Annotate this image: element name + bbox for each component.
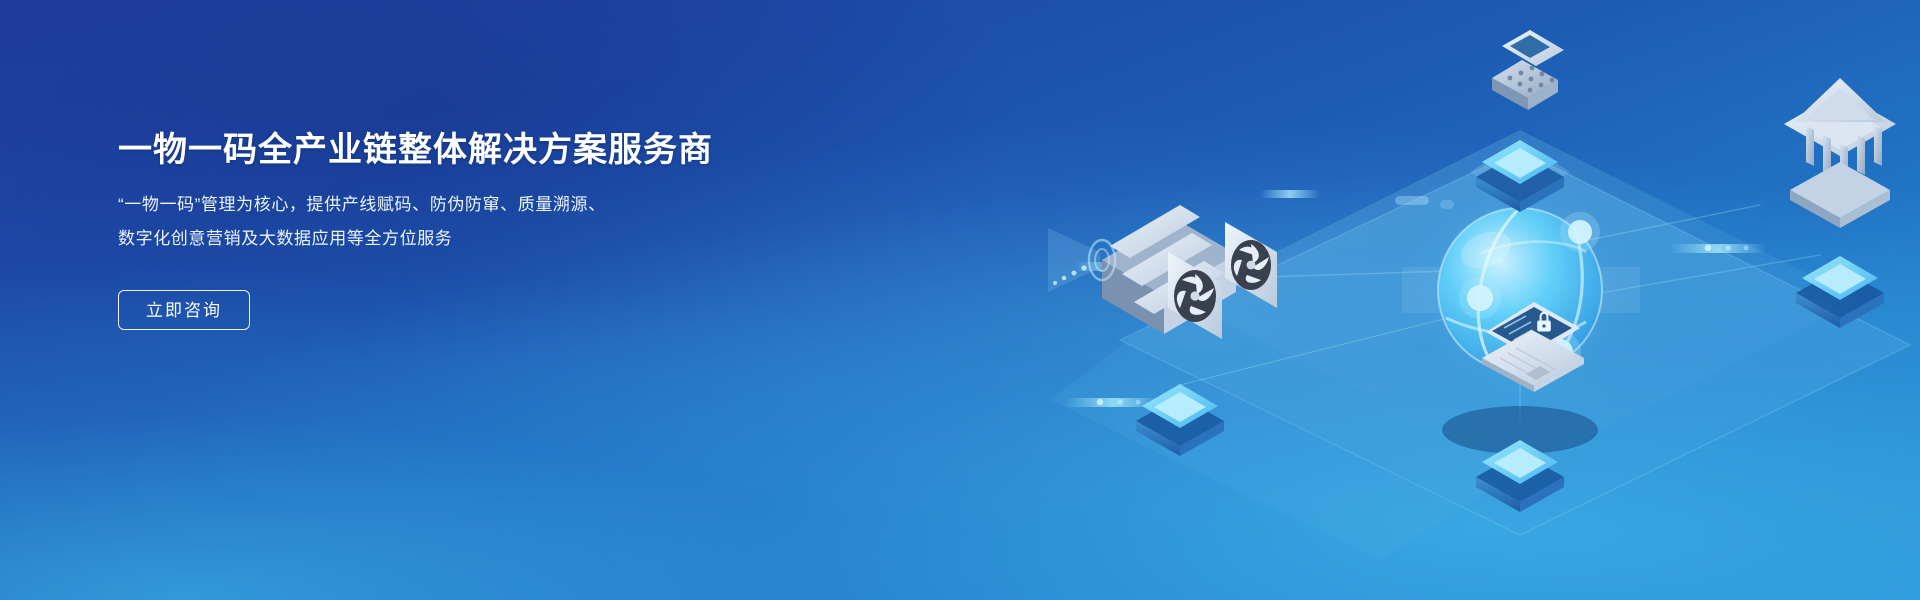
consult-now-button[interactable]: 立即咨询 (118, 290, 250, 330)
illustration-canvas (880, 0, 1920, 600)
bank-building-icon (1784, 78, 1896, 328)
hero-copy-block: 一物一码全产业链整体解决方案服务商 “一物一码”管理为核心，提供产线赋码、防伪防… (118, 128, 818, 330)
page-title: 一物一码全产业链整体解决方案服务商 (118, 128, 818, 172)
hero-banner: 一物一码全产业链整体解决方案服务商 “一物一码”管理为核心，提供产线赋码、防伪防… (0, 0, 1920, 600)
hero-illustration (880, 0, 1920, 600)
hero-subtitle-line-2: 数字化创意营销及大数据应用等全方位服务 (118, 222, 818, 256)
hero-subtitle: “一物一码”管理为核心，提供产线赋码、防伪防窜、质量溯源、 数字化创意营销及大数… (118, 172, 818, 256)
hero-subtitle-line-1: “一物一码”管理为核心，提供产线赋码、防伪防窜、质量溯源、 (118, 188, 818, 222)
pos-terminal-icon (1470, 30, 1570, 212)
